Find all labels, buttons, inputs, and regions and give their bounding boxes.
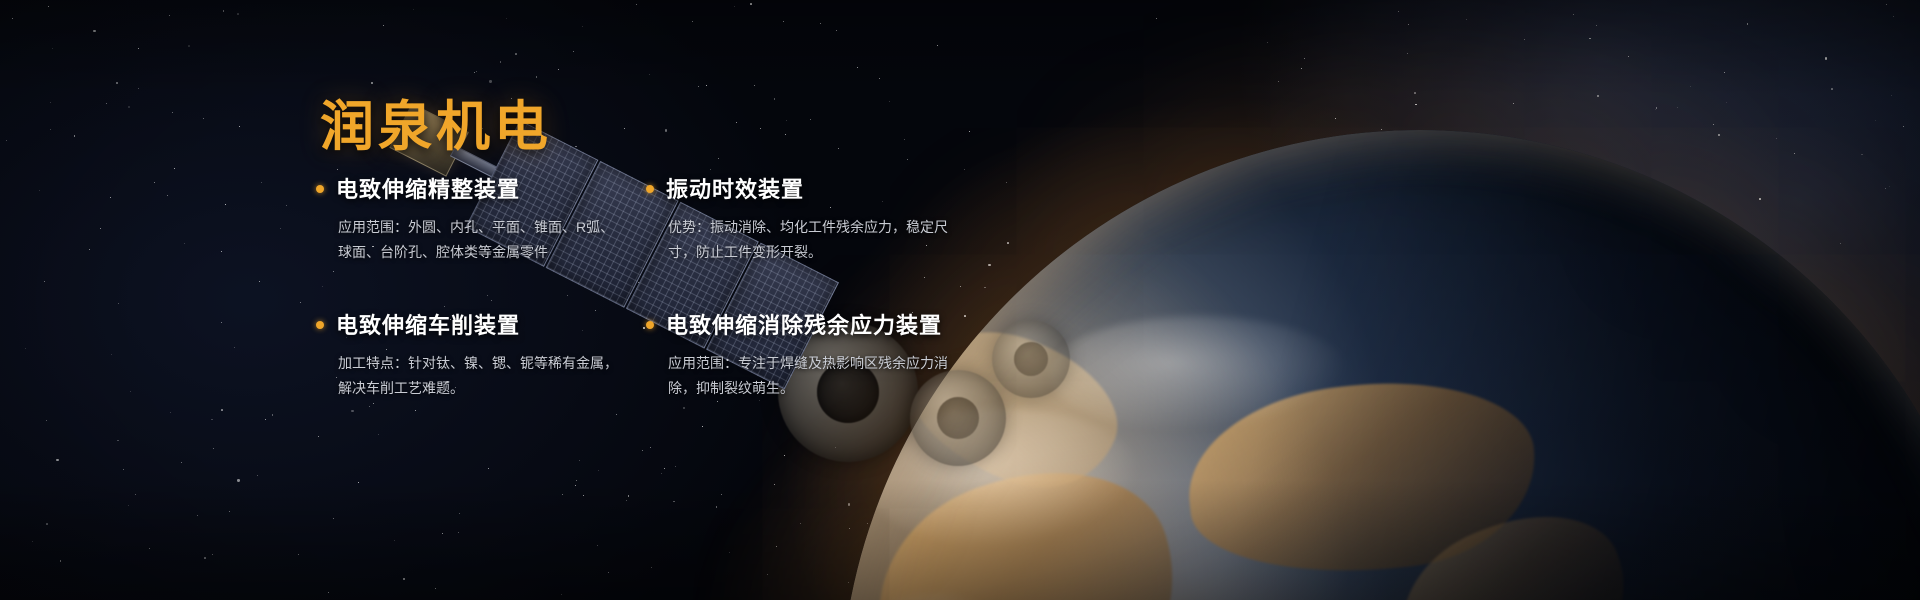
- feature-item-2[interactable]: 振动时效装置 优势：振动消除、均化工件残余应力，稳定尺寸，防止工件变形开裂。: [646, 172, 986, 265]
- feature-item-4[interactable]: 电致伸缩消除残余应力装置 应用范围：专注于焊缝及热影响区残余应力消除，抑制裂纹萌…: [646, 308, 986, 401]
- hero-content: 润泉机电 电致伸缩精整装置 应用范围：外圆、内孔、平面、锥面、R弧、球面、台阶孔…: [0, 0, 1920, 600]
- feature-description: 应用范围：专注于焊缝及热影响区残余应力消除，抑制裂纹萌生。: [668, 351, 968, 401]
- feature-heading: 电致伸缩车削装置: [316, 308, 646, 340]
- feature-heading: 电致伸缩精整装置: [316, 172, 646, 204]
- page-title: 润泉机电: [320, 82, 552, 161]
- feature-row-2: 电致伸缩车削装置 加工特点：针对钛、镍、锶、铌等稀有金属，解决车削工艺难题。 电…: [316, 308, 996, 401]
- bullet-dot-icon: [646, 185, 654, 193]
- feature-title: 电致伸缩车削装置: [336, 308, 520, 340]
- feature-description: 优势：振动消除、均化工件残余应力，稳定尺寸，防止工件变形开裂。: [668, 215, 968, 265]
- feature-title: 电致伸缩精整装置: [336, 172, 520, 204]
- feature-item-3[interactable]: 电致伸缩车削装置 加工特点：针对钛、镍、锶、铌等稀有金属，解决车削工艺难题。: [316, 308, 646, 401]
- bullet-dot-icon: [316, 321, 324, 329]
- feature-title: 振动时效装置: [666, 172, 804, 204]
- feature-heading: 振动时效装置: [646, 172, 986, 204]
- feature-list: 电致伸缩精整装置 应用范围：外圆、内孔、平面、锥面、R弧、球面、台阶孔、腔体类等…: [316, 172, 996, 401]
- bullet-dot-icon: [316, 185, 324, 193]
- feature-description: 加工特点：针对钛、镍、锶、铌等稀有金属，解决车削工艺难题。: [338, 351, 628, 401]
- bullet-dot-icon: [646, 321, 654, 329]
- feature-row-1: 电致伸缩精整装置 应用范围：外圆、内孔、平面、锥面、R弧、球面、台阶孔、腔体类等…: [316, 172, 996, 265]
- feature-heading: 电致伸缩消除残余应力装置: [646, 308, 986, 340]
- feature-item-1[interactable]: 电致伸缩精整装置 应用范围：外圆、内孔、平面、锥面、R弧、球面、台阶孔、腔体类等…: [316, 172, 646, 265]
- feature-title: 电致伸缩消除残余应力装置: [666, 308, 942, 340]
- feature-description: 应用范围：外圆、内孔、平面、锥面、R弧、球面、台阶孔、腔体类等金属零件: [338, 215, 628, 265]
